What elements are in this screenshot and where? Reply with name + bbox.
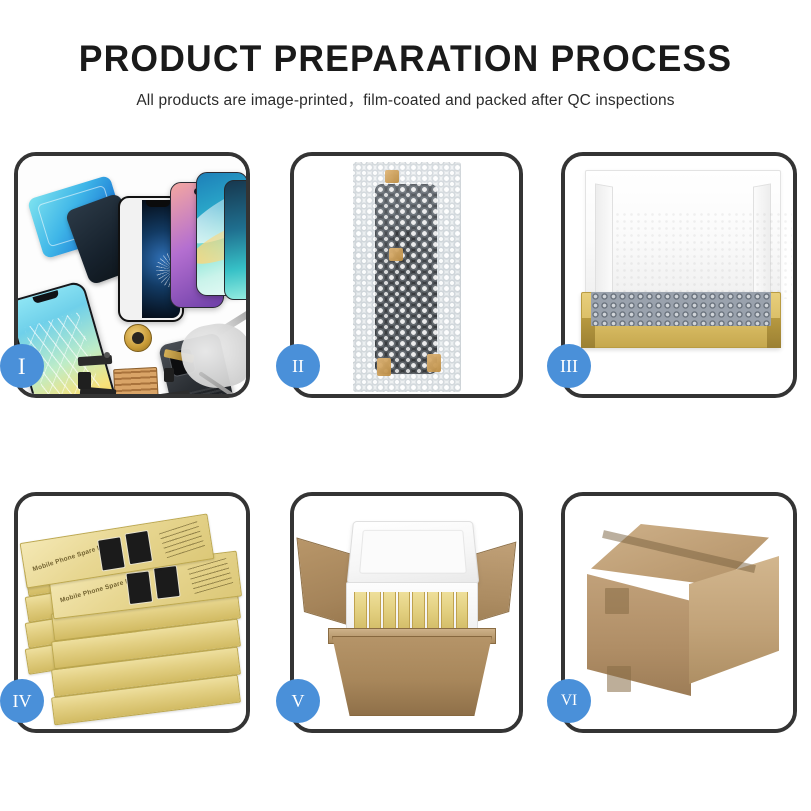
connector-chip-icon — [113, 367, 159, 394]
carton-tab — [605, 588, 629, 614]
sealed-shipping-carton — [565, 496, 793, 729]
open-carton-with-foam — [294, 496, 519, 729]
step-2-image — [294, 156, 519, 394]
process-step-2[interactable]: II — [290, 152, 523, 398]
step-3-image — [565, 156, 793, 394]
process-step-grid: I II — [0, 0, 811, 811]
box-art-screen — [125, 570, 153, 605]
step-1-image — [18, 156, 246, 394]
process-step-4[interactable]: Mobile Phone Spare Parts Mobile Phone Sp… — [14, 492, 250, 733]
step-6-image — [565, 496, 793, 729]
product-preparation-infographic: PRODUCT PREPARATION PROCESS All products… — [0, 0, 811, 811]
box-spec-lines — [188, 558, 234, 594]
carton-front-face — [587, 574, 691, 696]
box-art-screen — [153, 565, 181, 600]
ic-chip-icon — [78, 372, 91, 389]
white-box-lid-icon — [585, 170, 781, 298]
step-badge-2: II — [276, 344, 320, 388]
box-art-screen — [97, 536, 126, 571]
box-art-screen — [124, 530, 153, 565]
bubble-wrap-fill-icon — [591, 292, 771, 326]
speaker-coil-icon — [124, 324, 152, 352]
step-5-image — [294, 496, 519, 729]
phone-blue-display-icon — [224, 180, 246, 300]
foam-sheet-icon — [614, 211, 792, 299]
tape-icon — [377, 358, 391, 376]
bubble-wrap-bag-icon — [353, 162, 461, 392]
step-badge-5: V — [276, 679, 320, 723]
step-4-image: Mobile Phone Spare Parts Mobile Phone Sp… — [18, 496, 246, 729]
tape-icon — [427, 354, 441, 372]
stacked-gold-boxes: Mobile Phone Spare Parts Mobile Phone Sp… — [18, 496, 246, 729]
box-spec-lines — [159, 521, 205, 558]
foam-lid-icon — [347, 521, 480, 584]
phone-parts-collage — [18, 156, 246, 394]
step-badge-1: I — [0, 344, 44, 388]
bubble-texture — [353, 162, 461, 392]
step-badge-4: IV — [0, 679, 44, 723]
process-step-1[interactable]: I — [14, 152, 250, 398]
ic-chip-icon — [164, 368, 174, 382]
open-gold-box — [565, 156, 793, 394]
carton-body — [332, 636, 492, 716]
lid-flap-left — [595, 183, 613, 296]
tape-icon — [385, 170, 399, 183]
process-step-6[interactable]: VI — [561, 492, 797, 733]
process-step-5[interactable]: V — [290, 492, 523, 733]
screw-icon — [104, 352, 110, 358]
step-badge-6: VI — [547, 679, 591, 723]
carton-tab — [607, 666, 631, 692]
bubble-wrapped-screen — [294, 156, 519, 394]
step-badge-3: III — [547, 344, 591, 388]
process-step-3[interactable]: III — [561, 152, 797, 398]
tape-icon — [389, 248, 403, 261]
